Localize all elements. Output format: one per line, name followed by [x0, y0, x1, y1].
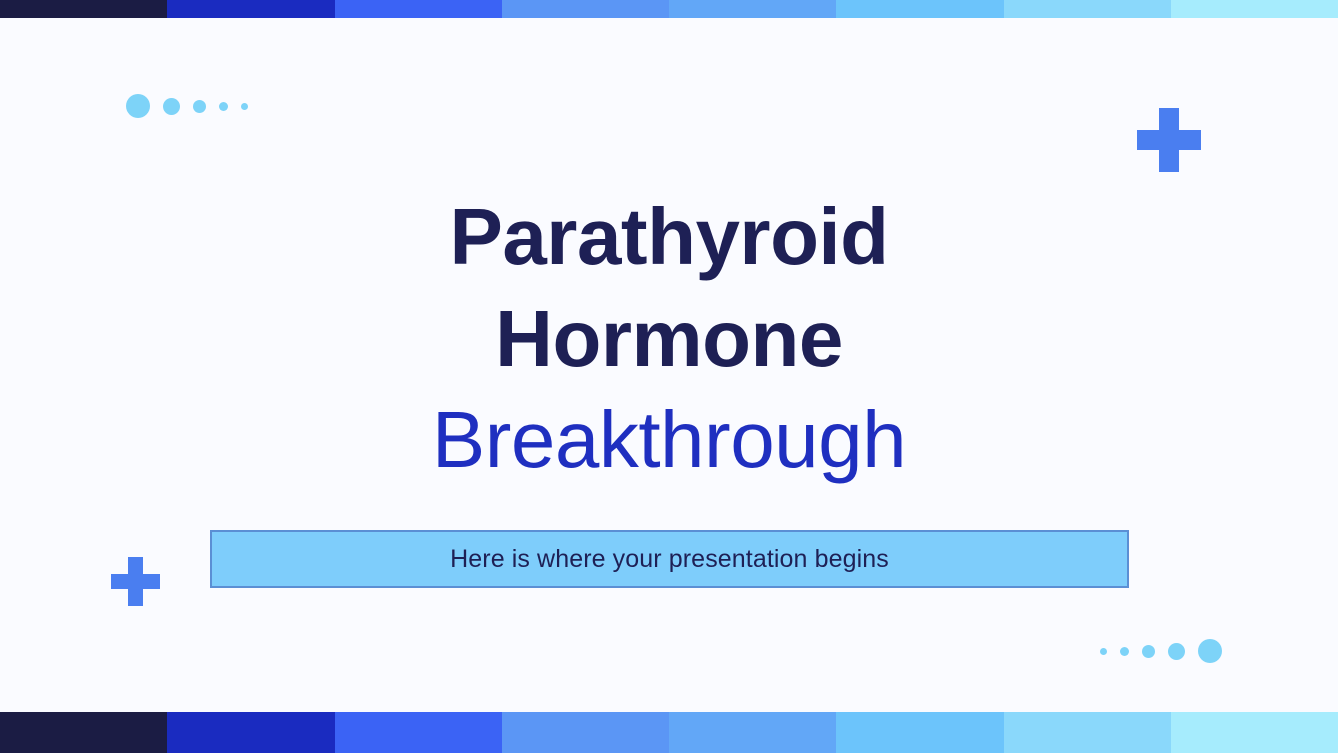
dot-icon	[193, 100, 206, 113]
gradient-segment	[836, 712, 1003, 753]
page-title: Parathyroid Hormone Breakthrough	[0, 186, 1338, 491]
dot-icon	[163, 98, 180, 115]
dot-icon	[219, 102, 228, 111]
gradient-segment	[669, 0, 836, 18]
gradient-segment	[0, 712, 167, 753]
gradient-bar-bottom	[0, 712, 1338, 753]
dot-icon	[1198, 639, 1222, 663]
dot-icon	[1100, 648, 1107, 655]
dot-row-descending	[126, 94, 248, 118]
dot-row-ascending	[1100, 639, 1222, 663]
gradient-segment	[167, 0, 334, 18]
plus-icon	[1137, 108, 1201, 172]
title-line-1: Parathyroid	[0, 186, 1338, 288]
gradient-segment	[502, 712, 669, 753]
gradient-segment	[335, 0, 502, 18]
gradient-segment	[1004, 712, 1171, 753]
subtitle-text: Here is where your presentation begins	[450, 545, 889, 574]
gradient-segment	[1171, 0, 1338, 18]
dot-icon	[241, 103, 248, 110]
dot-icon	[1120, 647, 1129, 656]
gradient-segment	[836, 0, 1003, 18]
title-line-2: Hormone	[0, 288, 1338, 390]
dot-icon	[1168, 643, 1185, 660]
gradient-segment	[1171, 712, 1338, 753]
gradient-segment	[669, 712, 836, 753]
gradient-segment	[167, 712, 334, 753]
gradient-segment	[502, 0, 669, 18]
gradient-segment	[1004, 0, 1171, 18]
subtitle-banner: Here is where your presentation begins	[210, 530, 1129, 588]
gradient-segment	[0, 0, 167, 18]
dot-icon	[1142, 645, 1155, 658]
gradient-segment	[335, 712, 502, 753]
dot-icon	[126, 94, 150, 118]
gradient-bar-top	[0, 0, 1338, 18]
plus-icon	[111, 557, 160, 606]
title-line-3: Breakthrough	[0, 389, 1338, 491]
presentation-slide: Parathyroid Hormone Breakthrough Here is…	[0, 0, 1338, 753]
